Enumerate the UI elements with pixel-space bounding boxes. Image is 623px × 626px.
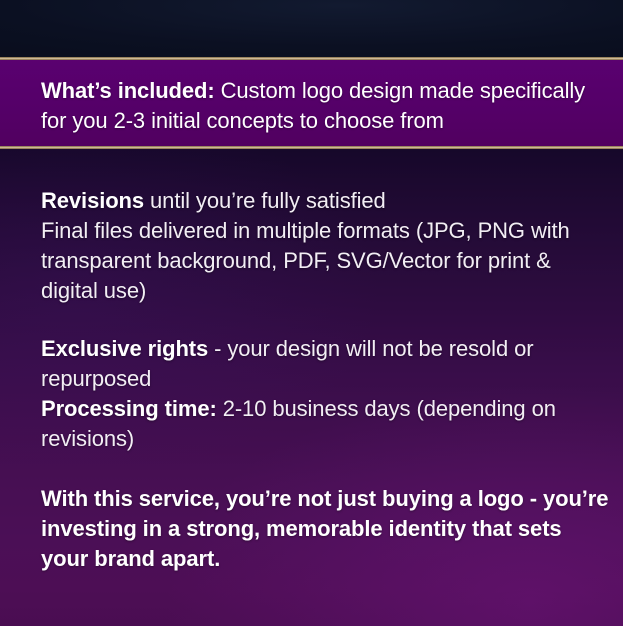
closing-statement-text: With this service, you’re not just buyin…: [41, 484, 609, 574]
whats-included-banner: What’s included: Custom logo design made…: [0, 57, 623, 149]
block-revisions: Revisions until you’re fully satisfied F…: [41, 186, 609, 306]
slide-canvas: What’s included: Custom logo design made…: [0, 0, 623, 626]
block-closing-statement: With this service, you’re not just buyin…: [41, 484, 609, 574]
banner-bottom-gold-rule: [0, 146, 623, 149]
exclusive-rights-lead-label: Exclusive rights: [41, 336, 208, 361]
exclusive-rights-line: Exclusive rights - your design will not …: [41, 334, 609, 394]
banner-paragraph: What’s included: Custom logo design made…: [41, 76, 601, 136]
block-spacer-2: [41, 454, 609, 484]
block-spacer-1: [41, 306, 609, 334]
revisions-line: Revisions until you’re fully satisfied: [41, 186, 609, 216]
top-dark-band: [0, 0, 623, 57]
final-files-text: Final files delivered in multiple format…: [41, 216, 609, 306]
revisions-lead-label: Revisions: [41, 188, 144, 213]
revisions-body-text: until you’re fully satisfied: [144, 188, 386, 213]
banner-lead-label: What’s included:: [41, 78, 215, 103]
body-text-blocks: Revisions until you’re fully satisfied F…: [41, 186, 609, 574]
banner-top-gold-rule: [0, 57, 623, 60]
processing-time-lead-label: Processing time:: [41, 396, 217, 421]
block-exclusive-rights: Exclusive rights - your design will not …: [41, 334, 609, 454]
processing-time-line: Processing time: 2-10 business days (dep…: [41, 394, 609, 454]
